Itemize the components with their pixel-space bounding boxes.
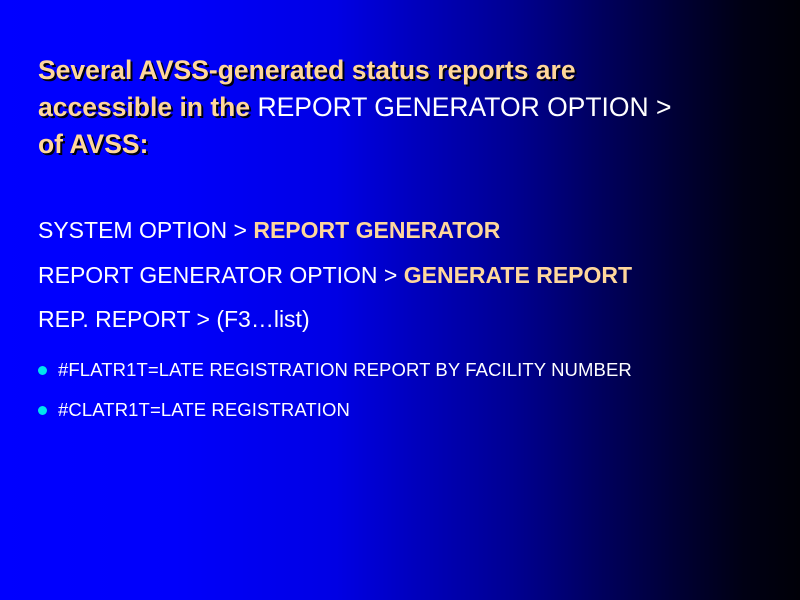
bullet-point-icon	[38, 366, 47, 375]
title-line-3: of AVSS:	[38, 126, 764, 163]
list-item: #CLATR1T=LATE REGISTRATION	[38, 390, 768, 430]
navigation-path-target: REPORT GENERATOR	[253, 217, 500, 243]
presentation-slide: Several AVSS-generated status reports ar…	[0, 0, 800, 600]
navigation-path-prefix: REP. REPORT > (F3…list)	[38, 306, 310, 332]
navigation-path-prefix: SYSTEM OPTION >	[38, 217, 253, 243]
report-code-list: #FLATR1T=LATE REGISTRATION REPORT BY FAC…	[38, 350, 768, 430]
list-item: #FLATR1T=LATE REGISTRATION REPORT BY FAC…	[38, 350, 768, 390]
title-line-2-emphasis: accessible in the	[38, 92, 257, 122]
list-item-label: #CLATR1T=LATE REGISTRATION	[58, 399, 350, 421]
list-item-label: #FLATR1T=LATE REGISTRATION REPORT BY FAC…	[58, 359, 632, 381]
title-line-3-text: of AVSS:	[38, 129, 148, 159]
title-line-1-text: Several AVSS-generated status reports ar…	[38, 55, 576, 85]
navigation-path-prefix: REPORT GENERATOR OPTION >	[38, 262, 404, 288]
title-line-2: accessible in the REPORT GENERATOR OPTIO…	[38, 89, 764, 126]
navigation-path-row: REPORT GENERATOR OPTION > GENERATE REPOR…	[38, 253, 768, 298]
title-line-2-menu-path: REPORT GENERATOR OPTION >	[257, 92, 671, 122]
slide-title: Several AVSS-generated status reports ar…	[38, 52, 764, 163]
navigation-path-list: SYSTEM OPTION > REPORT GENERATOR REPORT …	[38, 208, 768, 342]
navigation-path-target: GENERATE REPORT	[404, 262, 632, 288]
title-line-1: Several AVSS-generated status reports ar…	[38, 52, 764, 89]
bullet-point-icon	[38, 406, 47, 415]
navigation-path-row: SYSTEM OPTION > REPORT GENERATOR	[38, 208, 768, 253]
navigation-path-row: REP. REPORT > (F3…list)	[38, 297, 768, 342]
